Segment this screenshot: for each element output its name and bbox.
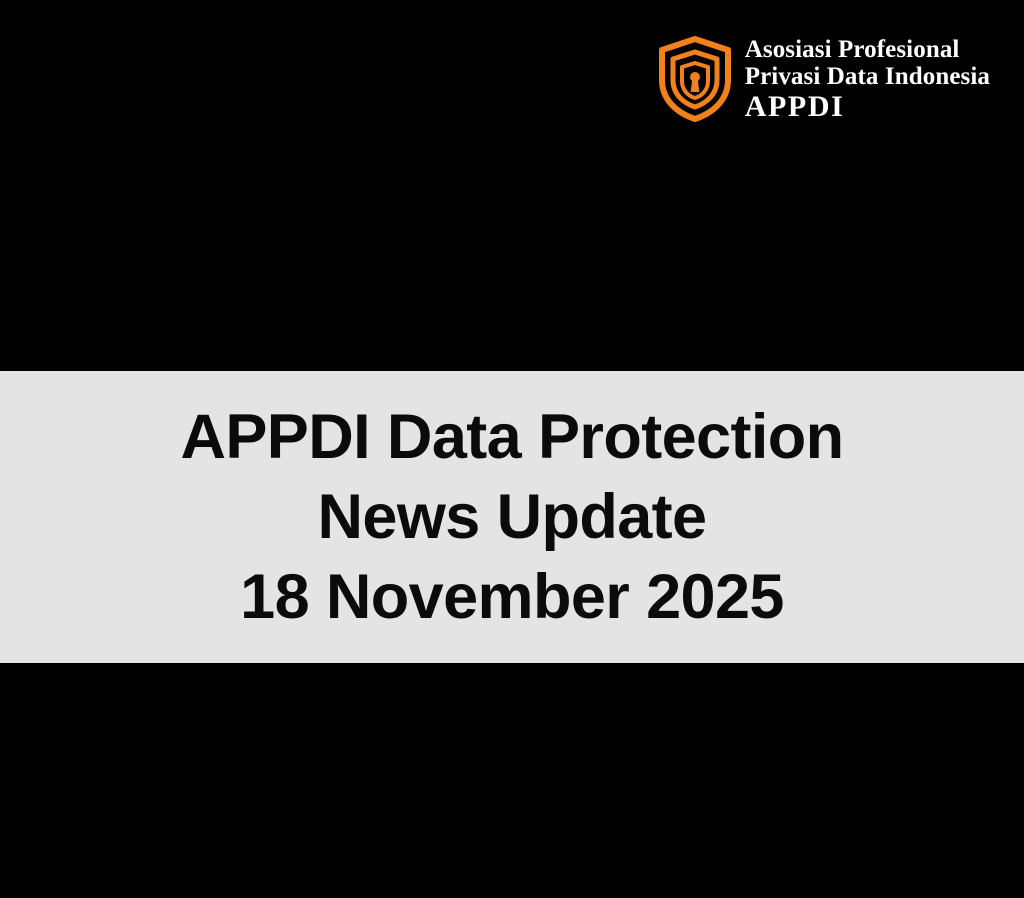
appdi-logo-lockup: Asosiasi Profesional Privasi Data Indone… <box>659 36 990 122</box>
headline-line-3: 18 November 2025 <box>180 557 843 637</box>
news-update-slide: Asosiasi Profesional Privasi Data Indone… <box>0 0 1024 898</box>
appdi-wordmark: Asosiasi Profesional Privasi Data Indone… <box>745 37 990 122</box>
headline-line-1: APPDI Data Protection <box>180 397 843 477</box>
org-acronym: APPDI <box>745 92 990 122</box>
appdi-shield-keyhole-icon <box>659 36 731 122</box>
page-title: APPDI Data Protection News Update 18 Nov… <box>140 397 883 637</box>
headline-line-2: News Update <box>180 477 843 557</box>
headline-band: APPDI Data Protection News Update 18 Nov… <box>0 371 1024 663</box>
org-name-line-2: Privasi Data Indonesia <box>745 64 990 89</box>
org-name-line-1: Asosiasi Profesional <box>745 37 990 62</box>
